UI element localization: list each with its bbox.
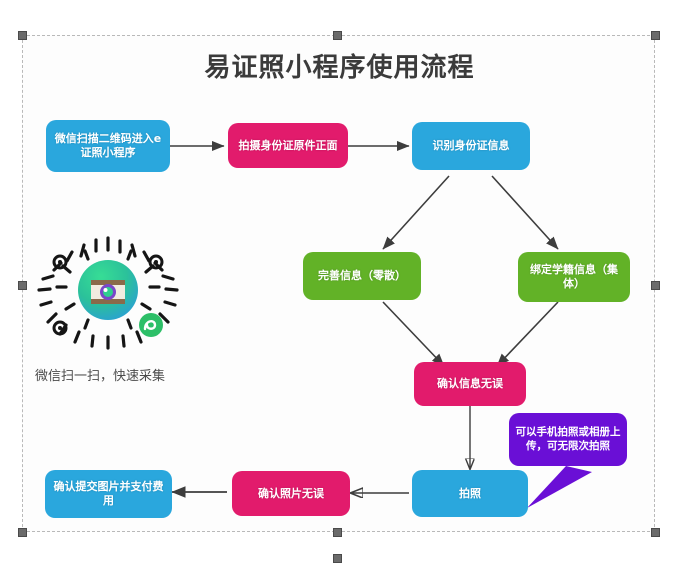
node-bind[interactable]: 绑定学籍信息（集体） bbox=[518, 252, 630, 302]
camera-icon bbox=[91, 280, 125, 304]
qr-code-icon bbox=[33, 232, 183, 352]
node-shoot-id[interactable]: 拍摄身份证原件正面 bbox=[228, 123, 348, 168]
wechat-miniprogram-icon bbox=[139, 313, 163, 337]
editor-canvas: 易证照小程序使用流程 bbox=[0, 0, 679, 562]
flowchart: 易证照小程序使用流程 bbox=[0, 0, 679, 562]
node-recognize[interactable]: 识别身份证信息 bbox=[412, 122, 530, 170]
node-submit-pay[interactable]: 确认提交图片并支付费用 bbox=[45, 470, 172, 518]
callout-photo-tip[interactable]: 可以手机拍照或相册上传，可无限次拍照 bbox=[509, 413, 627, 466]
node-scan[interactable]: 微信扫描二维码进入e证照小程序 bbox=[46, 120, 170, 172]
qr-caption: 微信扫一扫，快速采集 bbox=[35, 365, 165, 384]
page-title: 易证照小程序使用流程 bbox=[0, 47, 679, 84]
node-confirm-photo[interactable]: 确认照片无误 bbox=[232, 471, 350, 516]
node-confirm-info[interactable]: 确认信息无误 bbox=[414, 362, 526, 406]
node-complete[interactable]: 完善信息（零散） bbox=[303, 252, 421, 300]
wechat-qr-code[interactable] bbox=[33, 232, 183, 352]
node-take-photo[interactable]: 拍照 bbox=[412, 470, 528, 517]
